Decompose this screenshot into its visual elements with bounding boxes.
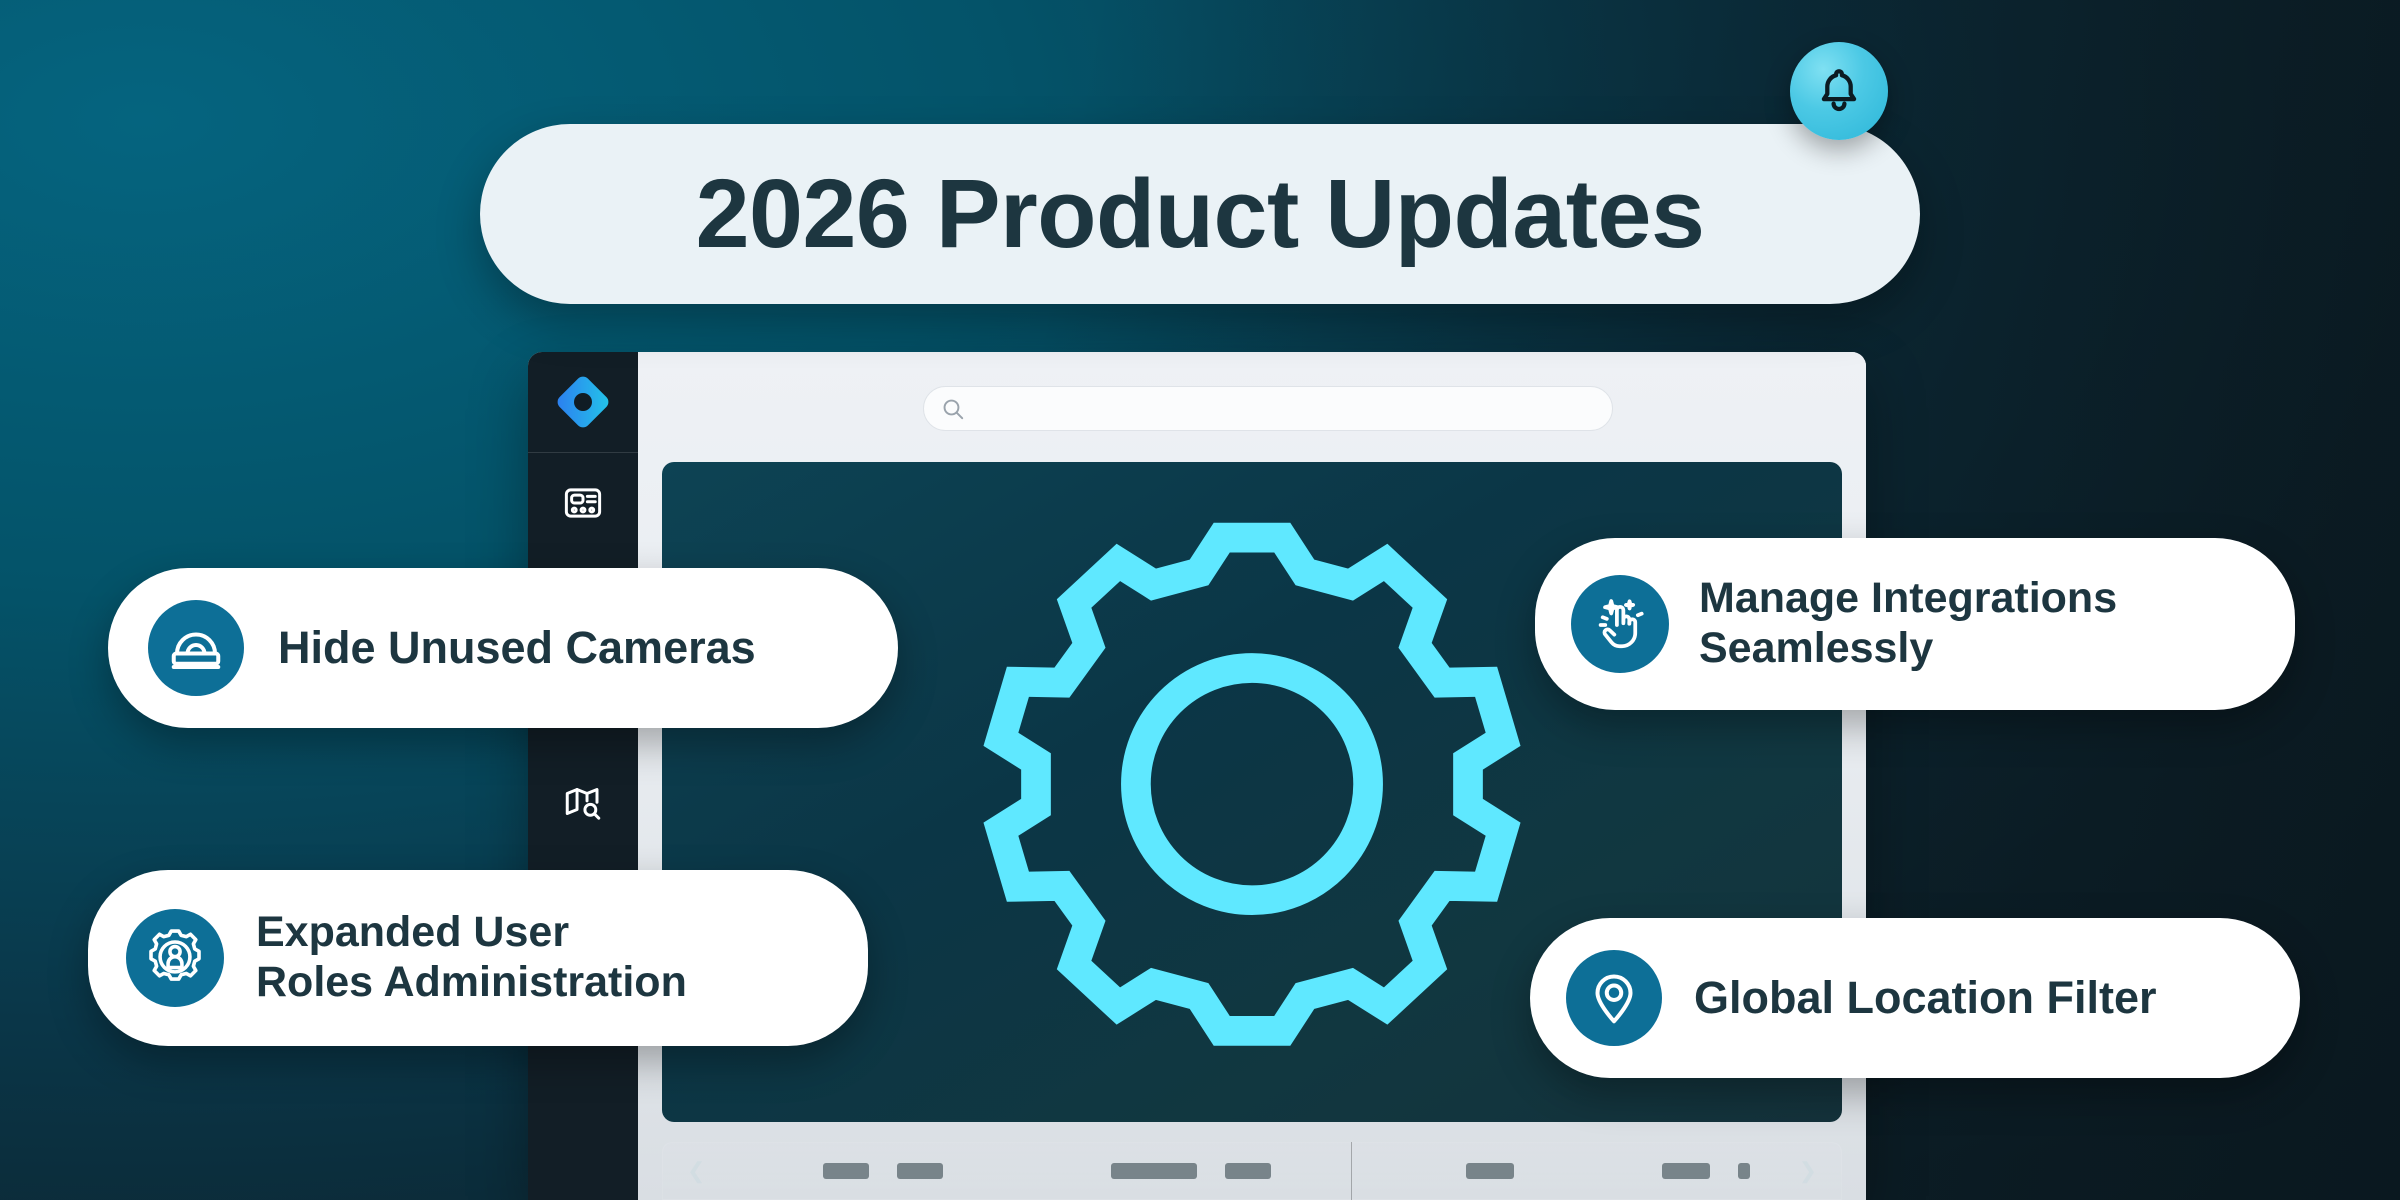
chevron-left-icon[interactable]: ❮	[687, 1158, 705, 1184]
placeholder-chip	[823, 1163, 869, 1179]
feature-pill-integrations[interactable]: Manage Integrations Seamlessly	[1535, 538, 2295, 710]
placeholder-chip	[1662, 1163, 1710, 1179]
bell-icon	[1812, 64, 1866, 118]
feature-pill-location-filter[interactable]: Global Location Filter	[1530, 918, 2300, 1078]
sidebar-item-analytics[interactable]	[528, 1053, 638, 1153]
placeholder-chip	[1738, 1163, 1750, 1179]
search-icon	[940, 396, 966, 422]
feature-icon-wrapper	[1571, 575, 1669, 673]
app-topbar	[638, 352, 1866, 462]
map-search-icon	[562, 782, 604, 824]
magic-tap-icon	[1589, 593, 1651, 655]
sidebar-item-map[interactable]	[528, 753, 638, 853]
feature-icon-wrapper	[148, 600, 244, 696]
placeholder-chip	[1466, 1163, 1514, 1179]
placeholder-chip	[897, 1163, 943, 1179]
diamond-logo-icon	[554, 373, 612, 431]
page-title-pill: 2026 Product Updates	[480, 124, 1920, 304]
gear-user-icon	[143, 926, 207, 990]
app-sidebar	[528, 352, 638, 1200]
dome-camera-icon	[166, 618, 226, 678]
placeholder-chip	[1111, 1163, 1197, 1179]
search-input[interactable]	[923, 386, 1613, 431]
placeholder-chip	[1225, 1163, 1271, 1179]
page-title: 2026 Product Updates	[696, 158, 1705, 270]
feature-label: Manage Integrations Seamlessly	[1699, 574, 2117, 674]
feature-label: Global Location Filter	[1694, 972, 2157, 1024]
sidebar-item-devices[interactable]	[528, 453, 638, 553]
feature-icon-wrapper	[1566, 950, 1662, 1046]
feature-label: Hide Unused Cameras	[278, 622, 756, 674]
map-pin-icon	[1584, 968, 1644, 1028]
bottom-widget-left: ❮	[663, 1143, 1351, 1199]
bottom-widget-right: ❯	[1352, 1143, 1841, 1199]
feature-label: Expanded User Roles Administration	[256, 908, 687, 1008]
feature-pill-hide-cameras[interactable]: Hide Unused Cameras	[108, 568, 898, 728]
gear-icon	[982, 520, 1522, 1060]
app-logo[interactable]	[528, 352, 638, 452]
device-panel-icon	[562, 482, 604, 524]
feature-pill-user-roles[interactable]: Expanded User Roles Administration	[88, 870, 868, 1046]
gear-graphic	[982, 520, 1522, 1065]
bottom-widgets-bar: ❮ ❯	[662, 1142, 1842, 1200]
feature-icon-wrapper	[126, 909, 224, 1007]
notification-badge[interactable]	[1790, 42, 1888, 140]
chevron-right-icon[interactable]: ❯	[1799, 1158, 1817, 1184]
